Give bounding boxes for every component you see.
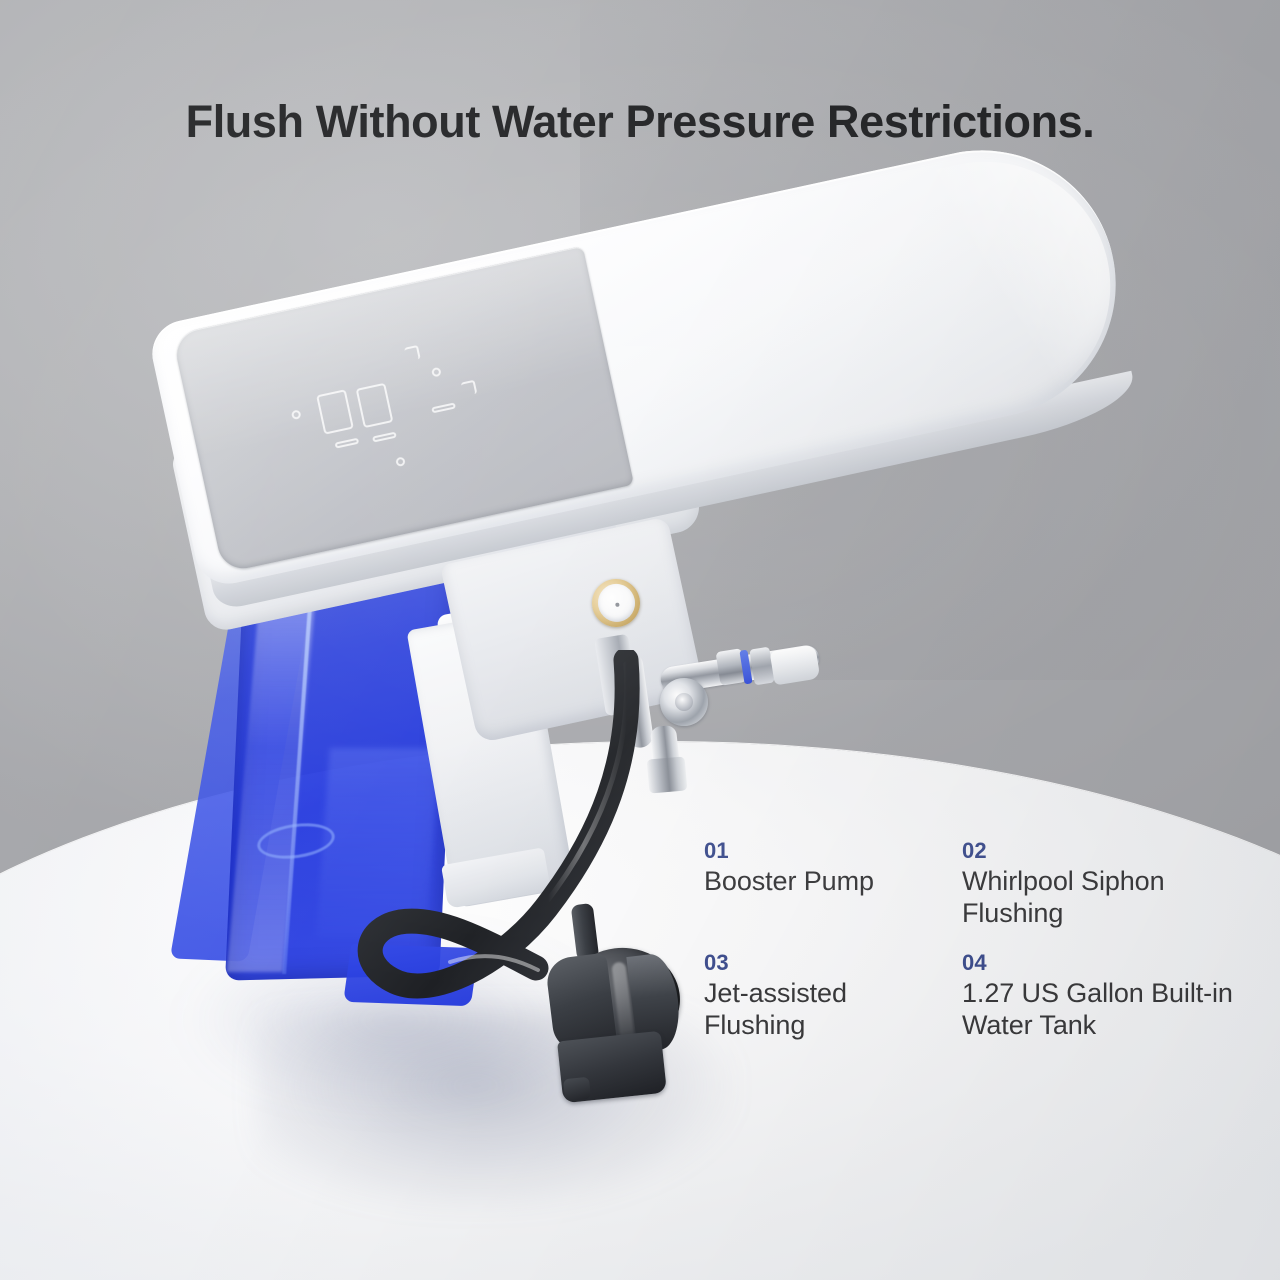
seat-lid-top-surface <box>146 125 1141 590</box>
chevron-down-icon[interactable] <box>461 380 478 397</box>
feature-label: Jet-assisted Flushing <box>704 977 954 1042</box>
feature-number: 01 <box>704 838 954 864</box>
feature-number: 03 <box>704 950 954 976</box>
nozzle-wash-icon[interactable] <box>431 367 442 378</box>
feature-number: 02 <box>962 838 1262 864</box>
display-digit-right <box>356 383 394 428</box>
seat-temp-icon[interactable] <box>335 438 360 449</box>
gold-knob-face <box>594 580 638 625</box>
supply-hose-connector <box>770 645 821 686</box>
feature-number: 04 <box>962 950 1262 976</box>
pump-foot-peg <box>563 1077 591 1102</box>
dryer-icon[interactable] <box>431 402 456 413</box>
power-icon[interactable] <box>291 409 302 420</box>
feature-label: 1.27 US Gallon Built-in Water Tank <box>962 977 1262 1042</box>
water-temp-icon[interactable] <box>372 432 397 443</box>
feature-label: Whirlpool Siphon Flushing <box>962 865 1262 930</box>
product-showcase-stage: Flush Without Water Pressure Restriction… <box>0 0 1280 1280</box>
stop-icon[interactable] <box>395 456 406 467</box>
display-digit-left <box>316 389 354 434</box>
booster-pump <box>520 948 690 1108</box>
page-title: Flush Without Water Pressure Restriction… <box>0 96 1280 148</box>
chevron-up-icon[interactable] <box>404 345 421 362</box>
feature-list: 01 Booster Pump 02 Whirlpool Siphon Flus… <box>704 838 1264 1041</box>
feature-item-02: 02 Whirlpool Siphon Flushing <box>962 838 1262 930</box>
gold-knob-indicator <box>615 602 620 607</box>
feature-item-01: 01 Booster Pump <box>704 838 954 930</box>
feature-label: Booster Pump <box>704 865 954 897</box>
feature-item-04: 04 1.27 US Gallon Built-in Water Tank <box>962 950 1262 1042</box>
feature-item-03: 03 Jet-assisted Flushing <box>704 950 954 1042</box>
